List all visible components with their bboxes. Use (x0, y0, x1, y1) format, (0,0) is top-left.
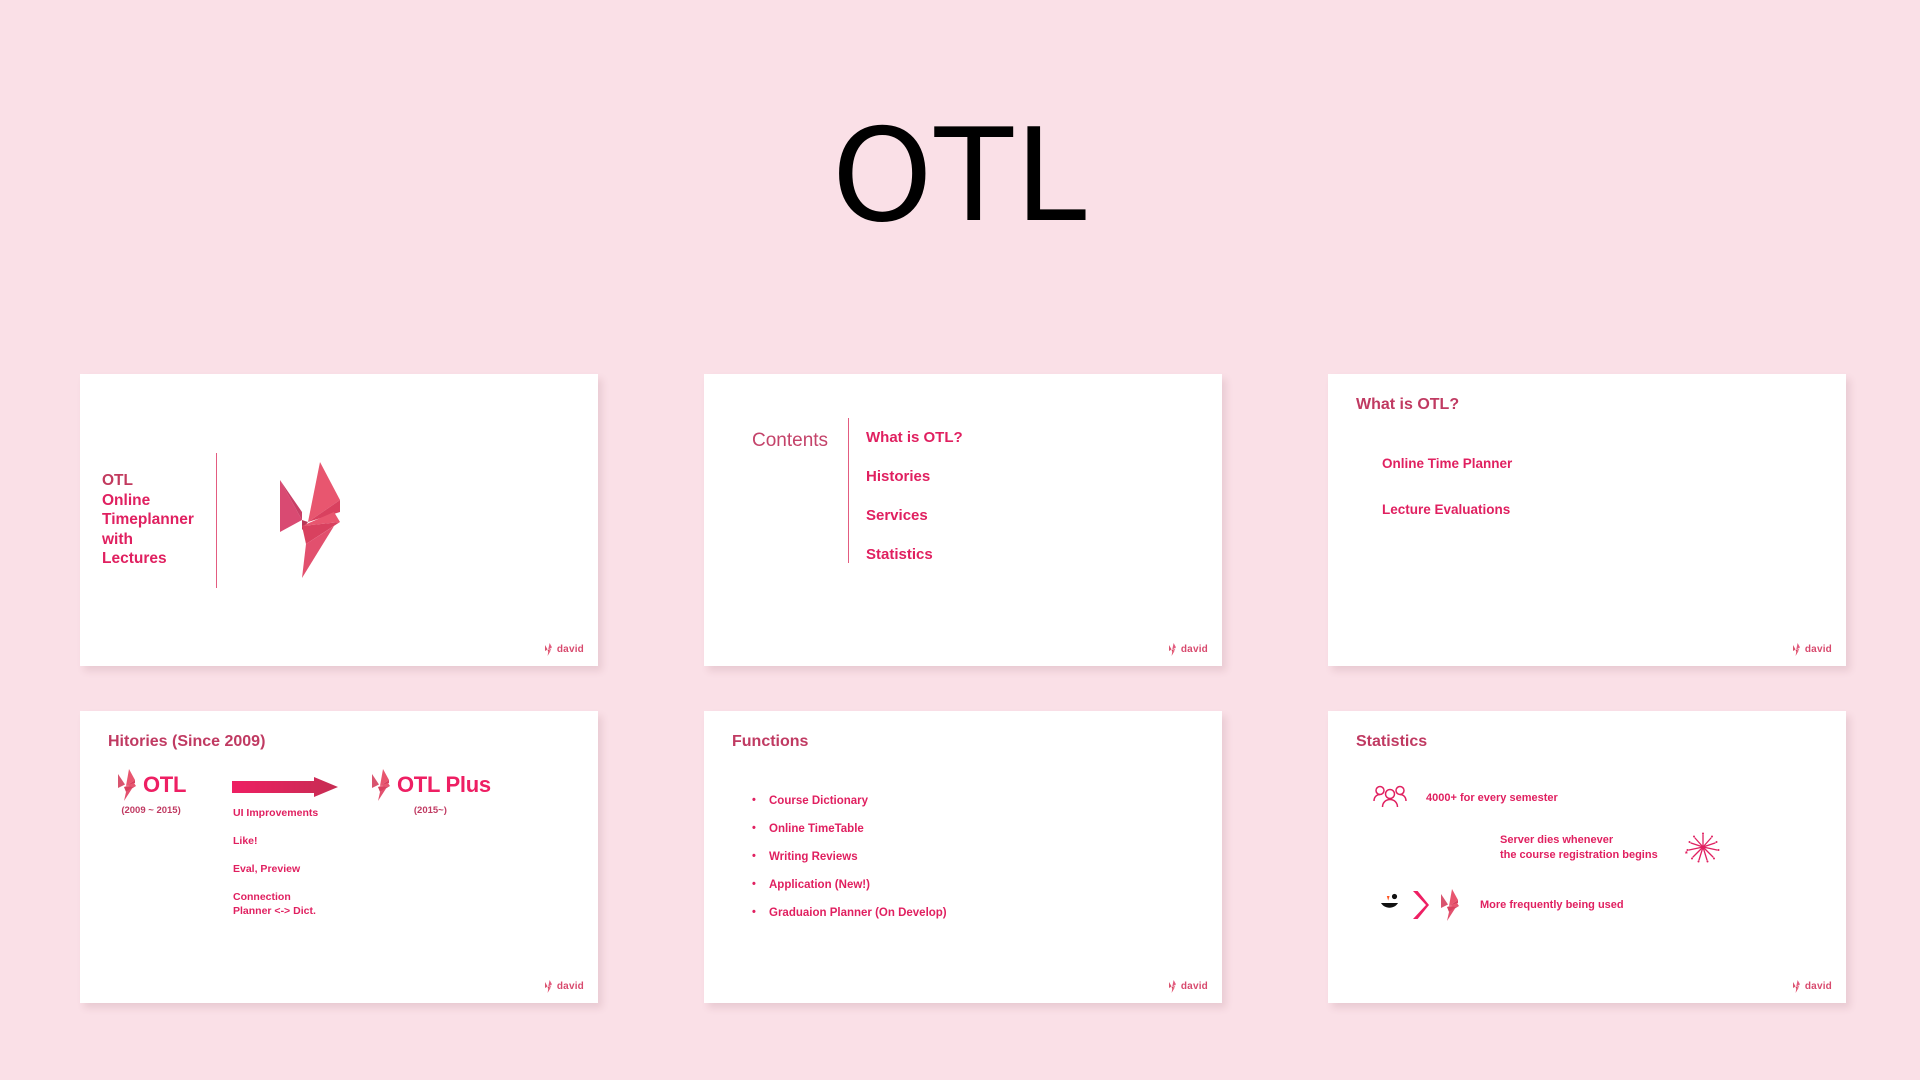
functions-slide[interactable]: Functions Course Dictionary Online TimeT… (704, 711, 1222, 1003)
what-is-otl-slide[interactable]: What is OTL? Online Time Planner Lecture… (1328, 374, 1846, 666)
slide-footer: david (544, 643, 584, 656)
cover-content: OTL Online Timeplanner with Lectures (80, 374, 598, 666)
signature-text: david (1805, 644, 1832, 655)
slide-heading: Hitories (Since 2009) (108, 733, 265, 751)
statistics-text-server: Server dies whenever the course registra… (1500, 833, 1658, 862)
cover-title-block: OTL Online Timeplanner with Lectures (102, 471, 214, 569)
signature-text: david (1181, 981, 1208, 992)
histories-brand-new-date: (2015~) (370, 805, 491, 816)
histories-brand-old: OTL (116, 769, 186, 801)
contents-item-histories[interactable]: Histories (866, 468, 963, 485)
cover-line-3: Timeplanner (102, 510, 214, 530)
slide-footer: david (544, 980, 584, 993)
histories-feature-like: Like! (233, 835, 318, 847)
cover-slide[interactable]: OTL Online Timeplanner with Lectures (80, 374, 598, 666)
histories-brand-new: OTL Plus (370, 769, 491, 801)
what-is-otl-item-evaluations: Lecture Evaluations (1382, 502, 1512, 517)
what-is-otl-item-planner: Online Time Planner (1382, 456, 1512, 471)
otl-bolt-icon (116, 769, 137, 801)
otl-bolt-icon (1792, 643, 1801, 656)
histories-version-new: OTL Plus (2015~) (370, 769, 491, 816)
slide-row: Hitories (Since 2009) OTL (80, 711, 1846, 1003)
slide-heading: Statistics (1356, 733, 1427, 751)
slide-row: OTL Online Timeplanner with Lectures (80, 374, 1846, 666)
slide-grid: OTL Online Timeplanner with Lectures (80, 374, 1846, 1003)
smiley-face-icon (1378, 892, 1404, 918)
statistics-text-server-line-2: the course registration begins (1500, 848, 1658, 863)
statistics-row-users: 4000+ for every semester (1372, 785, 1558, 811)
histories-feature-connection: Connection Planner <-> Dict. (233, 891, 318, 918)
cover-line-4: with (102, 530, 214, 550)
contents-item-what-is-otl[interactable]: What is OTL? (866, 429, 963, 446)
functions-item-writing-reviews: Writing Reviews (752, 851, 947, 863)
histories-feature-connection-line-1: Connection (233, 891, 318, 905)
slide-heading: Functions (732, 733, 808, 751)
signature-text: david (1181, 644, 1208, 655)
statistics-slide[interactable]: Statistics 4000+ for every semester (1328, 711, 1846, 1003)
histories-feature-ui: UI Improvements (233, 807, 318, 819)
otl-bolt-icon (1168, 980, 1177, 993)
cover-divider (216, 453, 217, 588)
contents-list: What is OTL? Histories Services Statisti… (866, 418, 963, 563)
otl-bolt-icon (370, 769, 391, 801)
statistics-text-usage: More frequently being used (1480, 898, 1624, 913)
chevron-right-icon (1412, 890, 1429, 920)
cover-line-2: Online (102, 491, 214, 511)
otl-bolt-icon (1439, 889, 1460, 921)
contents-item-statistics[interactable]: Statistics (866, 546, 963, 563)
otl-bolt-logo-icon (272, 460, 348, 580)
histories-feature-eval: Eval, Preview (233, 863, 318, 875)
signature-text: david (557, 644, 584, 655)
contents-slide[interactable]: Contents What is OTL? Histories Services… (704, 374, 1222, 666)
functions-item-graduation-planner: Graduaion Planner (On Develop) (752, 907, 947, 919)
statistics-row-server: Server dies whenever the course registra… (1500, 831, 1722, 865)
people-group-icon (1372, 785, 1408, 811)
otl-bolt-icon (544, 980, 553, 993)
functions-item-online-timetable: Online TimeTable (752, 823, 947, 835)
cover-line-5: Lectures (102, 549, 214, 569)
statistics-text-server-line-1: Server dies whenever (1500, 833, 1658, 848)
slide-footer: david (1168, 980, 1208, 993)
contents-item-services[interactable]: Services (866, 507, 963, 524)
histories-brand-old-name: OTL (143, 772, 186, 798)
what-is-otl-list: Online Time Planner Lecture Evaluations (1382, 456, 1512, 548)
histories-feature-list: UI Improvements Like! Eval, Preview Conn… (233, 807, 318, 918)
otl-bolt-icon (1792, 980, 1801, 993)
slide-footer: david (1792, 980, 1832, 993)
contents-divider (848, 418, 849, 563)
statistics-text-users: 4000+ for every semester (1426, 791, 1558, 806)
signature-text: david (1805, 981, 1832, 992)
slide-footer: david (1792, 643, 1832, 656)
contents-content: Contents What is OTL? Histories Services… (752, 418, 963, 563)
histories-brand-new-name: OTL Plus (397, 772, 491, 798)
functions-item-course-dictionary: Course Dictionary (752, 795, 947, 807)
signature-text: david (557, 981, 584, 992)
functions-item-application: Application (New!) (752, 879, 947, 891)
histories-content: OTL (2009 ~ 2015) UI Improvements (80, 765, 598, 1003)
right-arrow-icon (232, 777, 338, 797)
firework-icon (1684, 831, 1722, 865)
contents-label: Contents (752, 418, 848, 452)
histories-version-old: OTL (2009 ~ 2015) (116, 769, 186, 816)
histories-feature-connection-line-2: Planner <-> Dict. (233, 905, 318, 919)
histories-brand-old-date: (2009 ~ 2015) (116, 805, 186, 816)
histories-slide[interactable]: Hitories (Since 2009) OTL (80, 711, 598, 1003)
slide-heading: What is OTL? (1356, 396, 1459, 414)
otl-bolt-icon (544, 643, 553, 656)
slide-footer: david (1168, 643, 1208, 656)
page-title: OTL (0, 110, 1920, 244)
statistics-row-usage: More frequently being used (1378, 889, 1624, 921)
otl-bolt-icon (1168, 643, 1177, 656)
cover-line-1: OTL (102, 471, 214, 491)
functions-list: Course Dictionary Online TimeTable Writi… (752, 795, 947, 935)
